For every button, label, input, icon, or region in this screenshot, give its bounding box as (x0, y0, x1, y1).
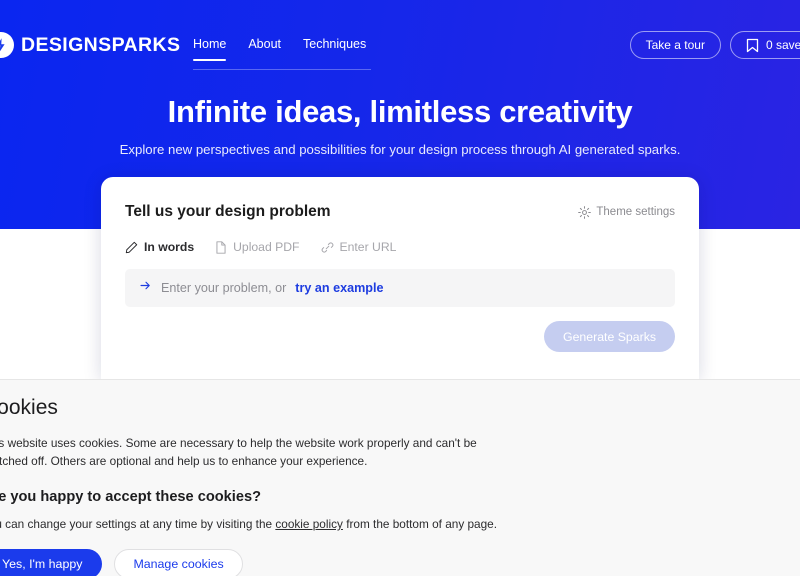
problem-input[interactable]: Enter your problem, or try an example (125, 269, 675, 307)
saved-count-label: 0 saved (766, 38, 800, 52)
header-actions: Take a tour 0 saved (630, 31, 800, 59)
take-a-tour-button[interactable]: Take a tour (630, 31, 721, 59)
tab-enter-url-label: Enter URL (340, 240, 397, 254)
manage-cookies-button[interactable]: Manage cookies (114, 549, 242, 576)
link-icon (321, 241, 334, 254)
cookie-note-before: You can change your settings at any time… (0, 517, 272, 531)
nav-item-home[interactable]: Home (193, 36, 226, 61)
main-nav: Home About Techniques (193, 36, 366, 70)
cookie-banner-body: This website uses cookies. Some are nece… (0, 434, 512, 470)
cookie-banner: Cookies This website uses cookies. Some … (0, 379, 800, 576)
spark-circle-logo-icon (0, 32, 14, 58)
card-header: Tell us your design problem Theme settin… (125, 203, 675, 221)
tab-in-words[interactable]: In words (125, 240, 194, 254)
cookie-banner-title: Cookies (0, 396, 780, 420)
problem-input-card: Tell us your design problem Theme settin… (101, 177, 699, 379)
pencil-icon (125, 241, 138, 254)
cookie-policy-link[interactable]: cookie policy (275, 517, 343, 531)
card-title: Tell us your design problem (125, 203, 331, 221)
hero-subtitle: Explore new perspectives and possibiliti… (0, 142, 800, 157)
card-actions: Generate Sparks (125, 321, 675, 352)
nav-item-about[interactable]: About (248, 36, 281, 61)
nav-item-techniques[interactable]: Techniques (303, 36, 366, 61)
problem-input-placeholder: Enter your problem, or (161, 281, 286, 295)
tab-in-words-label: In words (144, 240, 194, 254)
page-root: DESIGNSPARKS Home About Techniques Take … (0, 0, 800, 576)
tab-enter-url[interactable]: Enter URL (321, 240, 397, 254)
tab-upload-pdf[interactable]: Upload PDF (215, 240, 299, 254)
brand-name: DESIGNSPARKS (21, 34, 180, 57)
hero-title: Infinite ideas, limitless creativity (0, 94, 800, 130)
cookie-banner-question: Are you happy to accept these cookies? (0, 489, 780, 505)
cookie-banner-buttons: Yes, I'm happy Manage cookies (0, 549, 780, 576)
try-an-example-link[interactable]: try an example (295, 281, 383, 295)
saved-button[interactable]: 0 saved (730, 31, 800, 59)
bookmark-icon (746, 38, 759, 53)
theme-settings-label: Theme settings (596, 206, 675, 218)
generate-sparks-button[interactable]: Generate Sparks (544, 321, 675, 352)
cookie-note-after: from the bottom of any page. (346, 517, 497, 531)
theme-settings-button[interactable]: Theme settings (578, 206, 675, 219)
accept-cookies-button[interactable]: Yes, I'm happy (0, 549, 102, 576)
site-header: DESIGNSPARKS Home About Techniques Take … (0, 0, 800, 72)
brand-logo[interactable]: DESIGNSPARKS (0, 32, 180, 58)
arrow-right-icon (139, 279, 152, 297)
tab-upload-pdf-label: Upload PDF (233, 240, 299, 254)
file-icon (215, 241, 227, 254)
cookie-banner-note: You can change your settings at any time… (0, 517, 780, 531)
input-mode-tabs: In words Upload PDF (125, 240, 675, 254)
gear-icon (578, 206, 591, 219)
